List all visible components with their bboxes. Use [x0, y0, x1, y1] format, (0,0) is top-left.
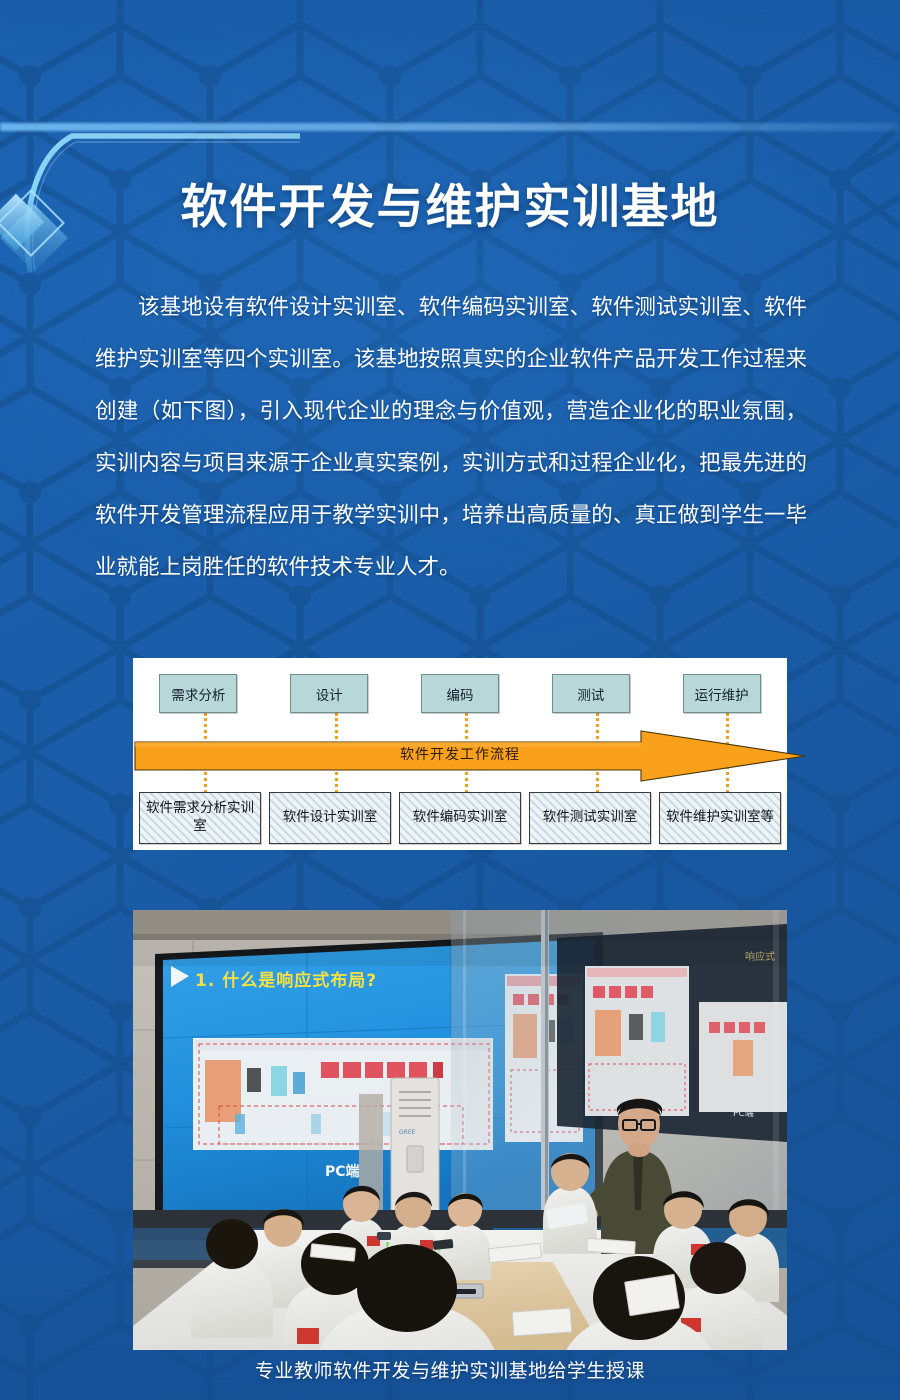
workflow-diagram: 需求分析 设计 编码 测试 运行维护 软件开发工作流程 软件需求分析实训室 软件…: [133, 658, 787, 850]
lab-box-coding: 软件编码实训室: [399, 792, 521, 844]
stage-cell: 测试: [525, 674, 656, 714]
lab-box-design: 软件设计实训室: [269, 792, 391, 844]
stage-box-design: 设计: [290, 674, 368, 713]
lab-box-requirements: 软件需求分析实训室: [139, 792, 261, 844]
stage-row: 需求分析 设计 编码 测试 运行维护: [133, 674, 787, 714]
lab-box-testing: 软件测试实训室: [529, 792, 651, 844]
stage-box-testing: 测试: [552, 674, 630, 713]
intro-paragraph: 该基地设有软件设计实训室、软件编码实训室、软件测试实训室、软件维护实训室等四个实…: [95, 282, 807, 594]
stage-cell: 设计: [264, 674, 395, 714]
stage-box-coding: 编码: [421, 674, 499, 713]
stage-box-maintenance: 运行维护: [683, 674, 761, 713]
photo-caption: 专业教师软件开发与维护实训基地给学生授课: [0, 1356, 900, 1383]
diagram-canvas: 需求分析 设计 编码 测试 运行维护 软件开发工作流程 软件需求分析实训室 软件…: [133, 658, 787, 850]
stage-cell: 编码: [395, 674, 526, 714]
lab-box-maintenance: 软件维护实训室等: [659, 792, 781, 844]
lab-row: 软件需求分析实训室 软件设计实训室 软件编码实训室 软件测试实训室 软件维护实训…: [139, 792, 781, 844]
stage-box-requirements: 需求分析: [159, 674, 237, 713]
workflow-arrow-label: 软件开发工作流程: [133, 744, 787, 764]
classroom-photo: 1. 什么是响应式布局? PC端: [133, 910, 787, 1350]
page-title: 软件开发与维护实训基地: [0, 182, 900, 235]
stage-cell: 运行维护: [656, 674, 787, 714]
stage-cell: 需求分析: [133, 674, 264, 714]
